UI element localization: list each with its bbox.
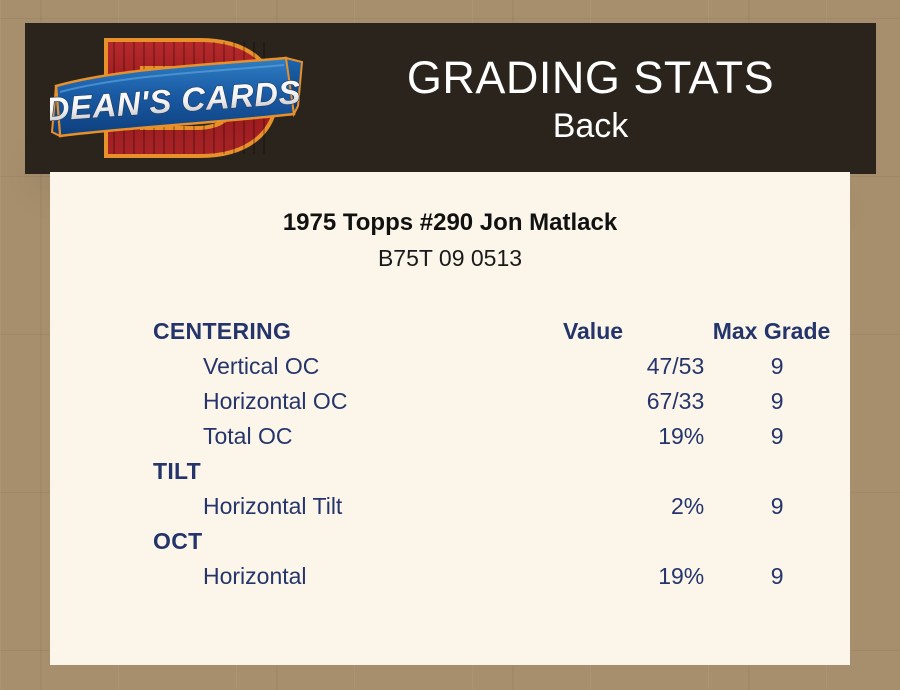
table-section-tilt: TILT [153, 458, 850, 493]
card-id: B75T 09 0513 [50, 238, 850, 272]
deans-cards-logo[interactable]: DEAN'S CARDS [50, 28, 305, 168]
table-header-row: CENTERING Value Max Grade [153, 318, 850, 353]
row-value: 19% [519, 423, 705, 450]
row-value: 2% [519, 493, 705, 520]
row-value: 47/53 [519, 353, 705, 380]
section-label: OCT [153, 528, 493, 555]
page-subtitle: Back [553, 105, 629, 147]
row-value: 19% [519, 563, 705, 590]
header-title-group: GRADING STATS Back [305, 23, 876, 174]
row-label: Vertical OC [153, 353, 519, 380]
table-section-oct: OCT [153, 528, 850, 563]
row-value: 67/33 [519, 388, 705, 415]
column-header-value: Value [493, 318, 693, 345]
table-row: Horizontal Tilt 2% 9 [153, 493, 850, 528]
row-grade: 9 [704, 493, 850, 520]
row-label: Horizontal [153, 563, 519, 590]
row-label: Horizontal OC [153, 388, 519, 415]
card-title: 1975 Topps #290 Jon Matlack [50, 172, 850, 238]
table-row: Total OC 19% 9 [153, 423, 850, 458]
row-label: Total OC [153, 423, 519, 450]
section-label: TILT [153, 458, 493, 485]
row-grade: 9 [704, 388, 850, 415]
header-bar: DEAN'S CARDS GRADING STATS Back [25, 23, 876, 174]
row-label: Horizontal Tilt [153, 493, 519, 520]
column-header-centering: CENTERING [153, 318, 493, 345]
table-row: Horizontal OC 67/33 9 [153, 388, 850, 423]
row-grade: 9 [704, 563, 850, 590]
row-grade: 9 [704, 423, 850, 450]
table-row: Vertical OC 47/53 9 [153, 353, 850, 388]
content-panel: 1975 Topps #290 Jon Matlack B75T 09 0513… [50, 172, 850, 665]
grading-stats-table: CENTERING Value Max Grade Vertical OC 47… [153, 318, 850, 598]
column-header-max-grade: Max Grade [693, 318, 850, 345]
page-title: GRADING STATS [407, 51, 774, 105]
table-row: Horizontal 19% 9 [153, 563, 850, 598]
row-grade: 9 [704, 353, 850, 380]
